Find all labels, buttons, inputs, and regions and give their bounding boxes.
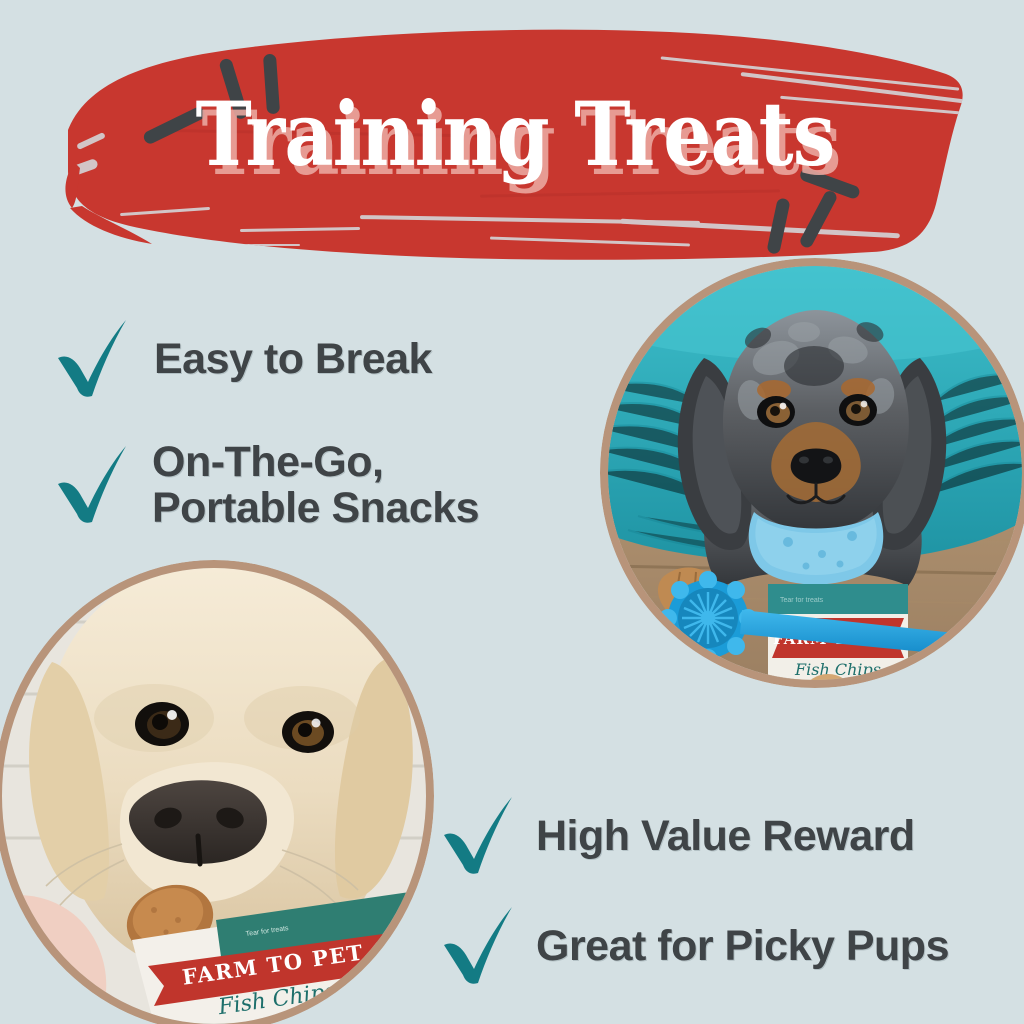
golden-retriever-photo-image: Tear for treats FARM TO PET Fish Chips — [2, 568, 426, 1024]
check-icon — [438, 795, 516, 879]
golden-retriever-photo: Tear for treats FARM TO PET Fish Chips — [0, 560, 434, 1024]
feature-great-for-picky-pups: Great for Picky Pups — [438, 905, 949, 989]
golden-retriever-scene: Tear for treats FARM TO PET Fish Chips — [2, 568, 426, 1024]
feature-label-line1: On-The-Go, — [152, 440, 479, 486]
feature-label: Easy to Break — [154, 337, 432, 383]
dachshund-photo: Tear for treats FARM TO PET Fish Chips — [600, 258, 1024, 688]
check-icon — [438, 905, 516, 989]
feature-label-multiline: On-The-Go, Portable Snacks — [152, 440, 479, 531]
dachshund-photo-image: Tear for treats FARM TO PET Fish Chips — [608, 266, 1022, 680]
feature-easy-to-break: Easy to Break — [52, 318, 432, 402]
feature-label-line2: Portable Snacks — [152, 486, 479, 532]
feature-label: Great for Picky Pups — [536, 924, 949, 970]
svg-text:Tear for treats: Tear for treats — [780, 597, 824, 604]
feature-label: High Value Reward — [536, 814, 915, 860]
feature-high-value-reward: High Value Reward — [438, 795, 915, 879]
feature-on-the-go: On-The-Go, Portable Snacks — [52, 440, 479, 531]
check-icon — [52, 318, 130, 402]
dachshund-scene: Tear for treats FARM TO PET Fish Chips — [608, 266, 1022, 680]
title-banner: Training Treats — [60, 12, 970, 260]
check-icon — [52, 444, 130, 528]
poster-canvas: Training Treats Easy to Break On-The-Go,… — [0, 0, 1024, 1024]
page-title: Training Treats — [124, 90, 907, 178]
